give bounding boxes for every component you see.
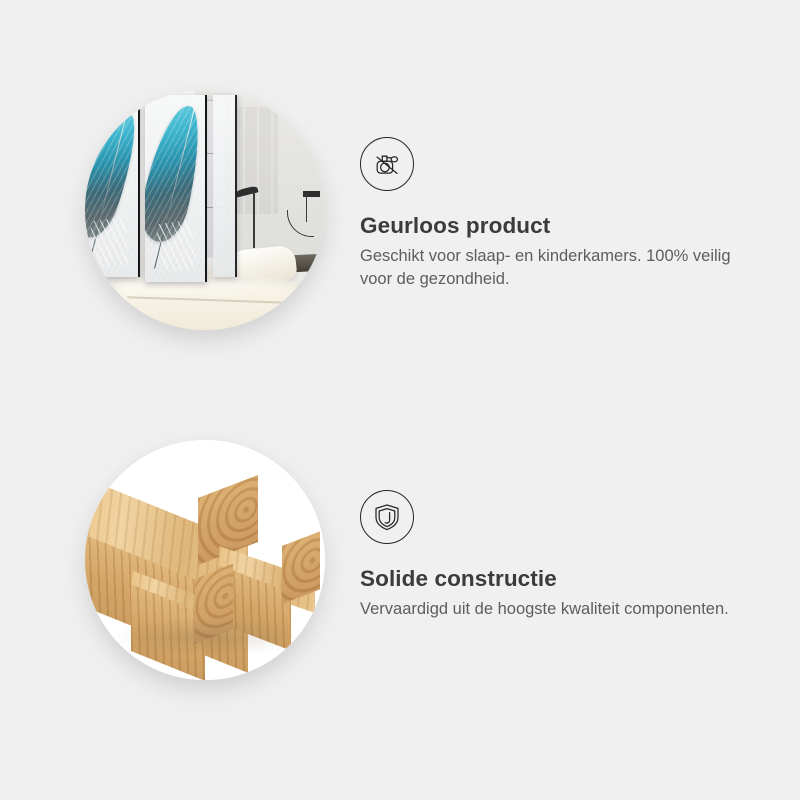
wood-scene bbox=[85, 440, 325, 680]
canvas-panel-2 bbox=[145, 95, 207, 282]
feature-image-odourless-product bbox=[85, 90, 325, 330]
wood-blocks-shadow bbox=[114, 618, 301, 656]
feature-title: Geurloos product bbox=[360, 212, 760, 239]
wooden-blocks-photo bbox=[85, 440, 325, 680]
no-perfume-icon bbox=[360, 137, 414, 191]
canvas-panel-1 bbox=[85, 95, 140, 277]
canvas-panel-3 bbox=[213, 95, 237, 277]
feature-image-solid-construction bbox=[85, 440, 325, 680]
circular-image-frame bbox=[85, 90, 325, 330]
duvet bbox=[104, 277, 325, 330]
shield-icon bbox=[360, 490, 414, 544]
room-scene bbox=[85, 90, 325, 330]
feather-wisp-2 bbox=[156, 220, 197, 273]
feature-title: Solide constructie bbox=[360, 565, 760, 592]
feature-description: Vervaardigd uit de hoogste kwaliteit com… bbox=[360, 598, 752, 621]
floor-lamp-post bbox=[253, 191, 255, 249]
feature-description: Geschikt voor slaap- en kinderkamers. 10… bbox=[360, 245, 752, 292]
circular-image-frame bbox=[85, 440, 325, 680]
bedroom-feather-canvas-photo bbox=[85, 90, 325, 330]
feather-wisp-1 bbox=[90, 217, 130, 269]
feature-highlights-page: Geurloos product Geschikt voor slaap- en… bbox=[0, 0, 800, 800]
